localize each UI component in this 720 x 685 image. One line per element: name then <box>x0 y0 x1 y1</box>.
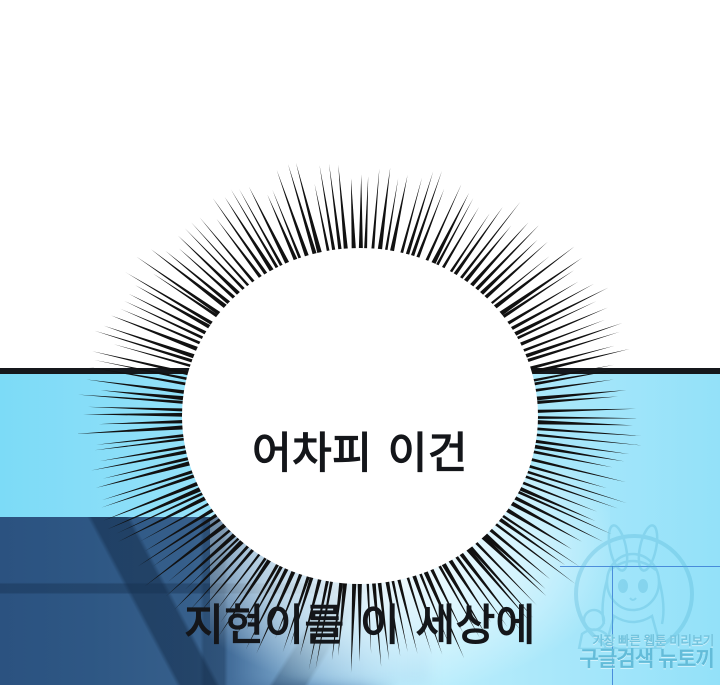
guide-line-horizontal <box>560 566 720 567</box>
speech-line-1: 어차피 이건 <box>110 426 610 483</box>
speech-text: 어차피 이건 지현이를 이 세상에 보여주기 위한… <box>110 312 610 685</box>
webtoon-panel: 어차피 이건 지현이를 이 세상에 보여주기 위한… <box>0 0 720 685</box>
speech-line-2: 지현이를 이 세상에 <box>110 598 610 655</box>
guide-line-vertical <box>612 566 613 685</box>
